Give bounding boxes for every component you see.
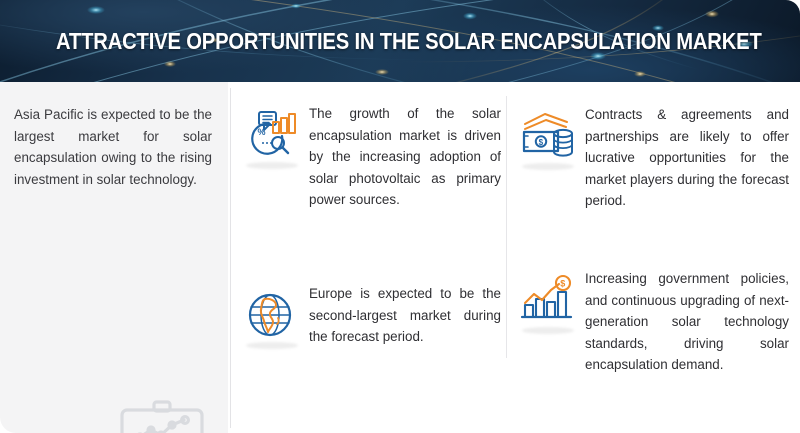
money-cash-coins-icon: $	[519, 108, 577, 166]
card-text-government-policies: Increasing government policies, and cont…	[585, 268, 789, 376]
bar-chart-growth-dollar-icon: $	[519, 272, 577, 330]
card-contracts-agreements: $ Contracts & agreements and partnership…	[519, 104, 791, 212]
presentation-chart-magnifier-icon	[108, 394, 216, 433]
svg-text:$: $	[560, 279, 565, 289]
pie-chart-report-magnifier-icon: %	[243, 107, 301, 165]
header-banner: ATTRACTIVE OPPORTUNITIES IN THE SOLAR EN…	[0, 0, 800, 82]
svg-text:$: $	[539, 138, 544, 147]
card-growth-drivers: % The growth of the solar encapsulation …	[243, 103, 505, 211]
divider-middle-right	[506, 96, 507, 358]
infographic-root: ATTRACTIVE OPPORTUNITIES IN THE SOLAR EN…	[0, 0, 800, 433]
card-text-contracts-agreements: Contracts & agreements and partnerships …	[585, 104, 789, 212]
icon-shadow	[522, 327, 574, 334]
icon-shadow	[246, 162, 298, 169]
left-region-panel: Asia Pacific is expected to be the large…	[0, 82, 228, 433]
left-panel-body-text: Asia Pacific is expected to be the large…	[14, 104, 212, 190]
card-government-policies: $ Increasing government policies, and co…	[519, 268, 791, 376]
card-europe-second-largest: Europe is expected to be the second-larg…	[243, 283, 505, 348]
globe-europe-africa-icon	[243, 287, 301, 345]
card-text-growth-drivers: The growth of the solar encapsulation ma…	[309, 103, 501, 211]
icon-shadow	[522, 163, 574, 170]
page-title: ATTRACTIVE OPPORTUNITIES IN THE SOLAR EN…	[56, 26, 744, 56]
divider-left-main	[230, 88, 231, 428]
icon-shadow	[246, 342, 298, 349]
card-text-europe-second-largest: Europe is expected to be the second-larg…	[309, 283, 501, 348]
